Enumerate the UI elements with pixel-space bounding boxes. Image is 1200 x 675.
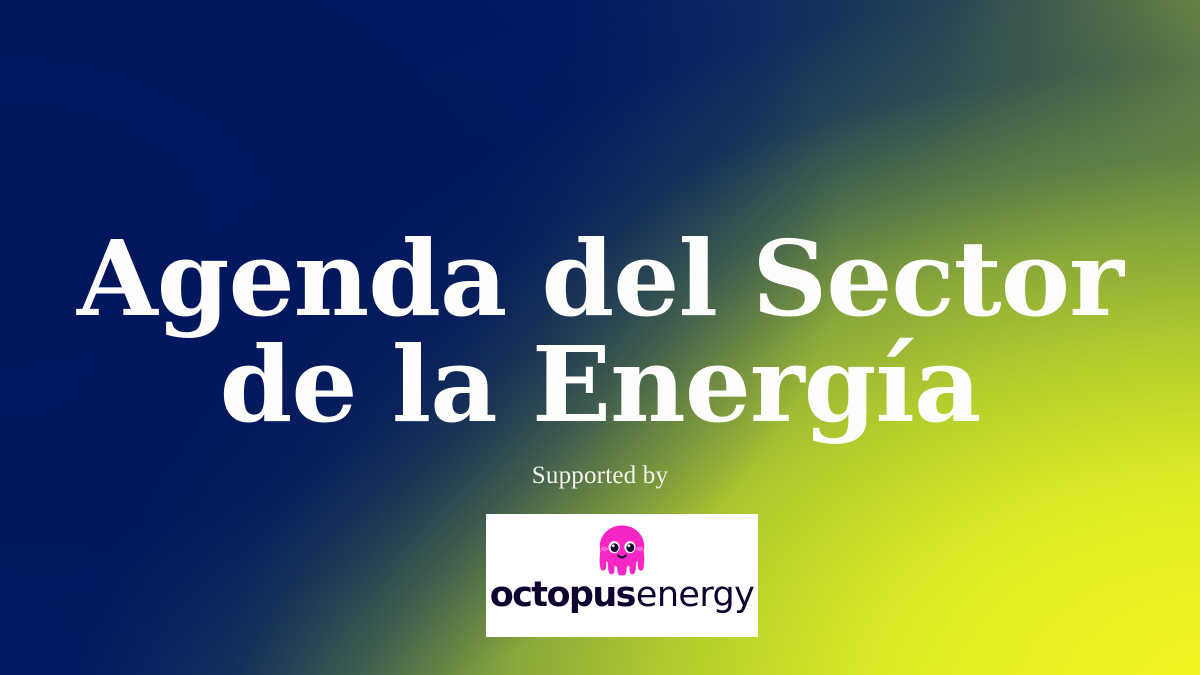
slide-content: Agenda del Sector de la Energía Supporte…	[0, 0, 1200, 675]
sponsor-wordmark-octopus: octopus	[490, 578, 635, 613]
page-title: Agenda del Sector de la Energía	[0, 226, 1200, 438]
octopus-mascot-icon	[594, 523, 650, 576]
sponsor-wordmark: octopus energy	[486, 578, 758, 613]
supported-by-label: Supported by	[0, 462, 1200, 490]
presentation-title-slide: Agenda del Sector de la Energía Supporte…	[0, 0, 1200, 675]
sponsor-wordmark-energy: energy	[636, 578, 754, 613]
sponsor-logo-card: octopus energy	[486, 514, 758, 637]
